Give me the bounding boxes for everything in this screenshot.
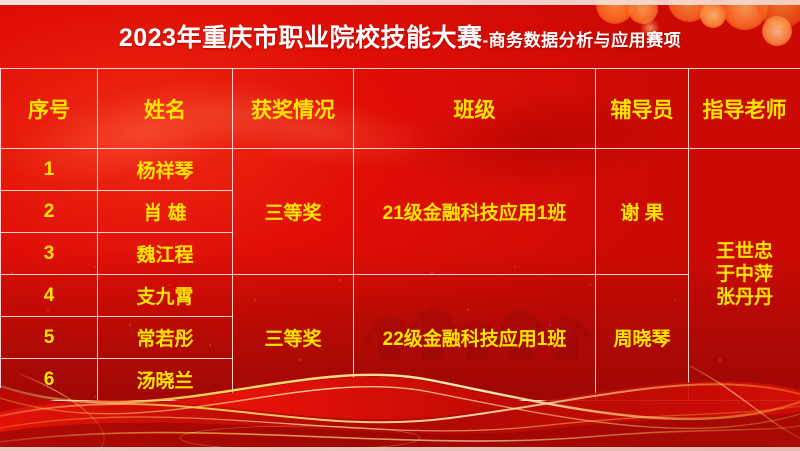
table-row: 4 支九霄 三等奖 22级金融科技应用1班 周晓琴: [1, 275, 800, 317]
cell-name: 杨祥琴: [98, 149, 233, 191]
page-title: 2023年重庆市职业院校技能大赛-商务数据分析与应用赛项: [0, 5, 800, 67]
cell-teacher: 王世忠 于中萍 张丹丹: [689, 149, 800, 401]
cell-no: 3: [1, 233, 98, 275]
table-row: 1 杨祥琴 三等奖 21级金融科技应用1班 谢 果 王世忠 于中萍 张丹丹: [1, 149, 800, 191]
cell-name: 魏江程: [98, 233, 233, 275]
ribbon-wave-red-3: [0, 412, 800, 451]
cell-name: 支九霄: [98, 275, 233, 317]
slide-canvas: 2023年重庆市职业院校技能大赛-商务数据分析与应用赛项 序号 姓名 获奖情况 …: [0, 0, 800, 451]
cell-award: 三等奖: [233, 275, 354, 401]
cell-no: 4: [1, 275, 98, 317]
column-header-teacher: 指导老师: [689, 69, 800, 149]
bottom-edge-strip: [0, 447, 800, 451]
table-body: 1 杨祥琴 三等奖 21级金融科技应用1班 谢 果 王世忠 于中萍 张丹丹 2 …: [1, 149, 800, 401]
cell-counselor: 周晓琴: [596, 275, 689, 401]
teacher-name: 王世忠: [689, 240, 800, 263]
teacher-name: 于中萍: [689, 263, 800, 286]
teacher-name: 张丹丹: [689, 286, 800, 309]
cell-name: 汤晓兰: [98, 359, 233, 401]
table-header-row: 序号 姓名 获奖情况 班级 辅导员 指导老师: [1, 69, 800, 149]
column-header-class: 班级: [354, 69, 596, 149]
title-main-text: 2023年重庆市职业院校技能大赛: [119, 24, 483, 52]
cell-counselor: 谢 果: [596, 149, 689, 275]
cell-award: 三等奖: [233, 149, 354, 275]
ribbon-gold-line-4: [0, 406, 800, 431]
table-header: 序号 姓名 获奖情况 班级 辅导员 指导老师: [1, 69, 800, 149]
cell-class: 21级金融科技应用1班: [354, 149, 596, 275]
cell-no: 6: [1, 359, 98, 401]
column-header-name: 姓名: [98, 69, 233, 149]
cell-name: 常若彤: [98, 317, 233, 359]
award-table: 序号 姓名 获奖情况 班级 辅导员 指导老师 1 杨祥琴 三等奖 21级金融科技…: [0, 68, 800, 401]
ribbon-gold-line-5: [0, 426, 800, 442]
cell-no: 1: [1, 149, 98, 191]
column-header-no: 序号: [1, 69, 98, 149]
column-header-award: 获奖情况: [233, 69, 354, 149]
cell-no: 5: [1, 317, 98, 359]
title-sub-text: -商务数据分析与应用赛项: [482, 31, 681, 50]
cell-class: 22级金融科技应用1班: [354, 275, 596, 401]
cell-no: 2: [1, 191, 98, 233]
cell-name: 肖 雄: [98, 191, 233, 233]
column-header-counselor: 辅导员: [596, 69, 689, 149]
